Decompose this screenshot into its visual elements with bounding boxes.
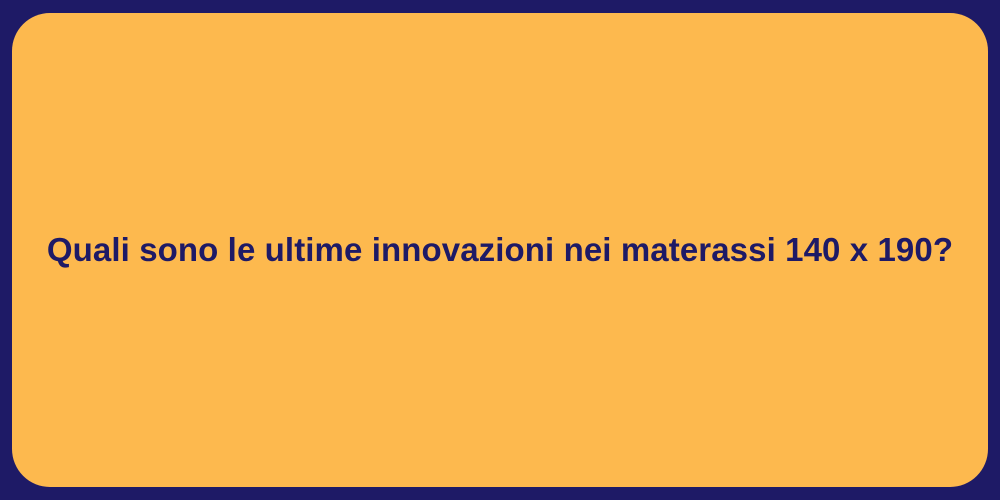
page-canvas: Quali sono le ultime innovazioni nei mat… [0, 0, 1000, 500]
page-title: Quali sono le ultime innovazioni nei mat… [47, 229, 953, 270]
headline-card: Quali sono le ultime innovazioni nei mat… [12, 13, 988, 487]
